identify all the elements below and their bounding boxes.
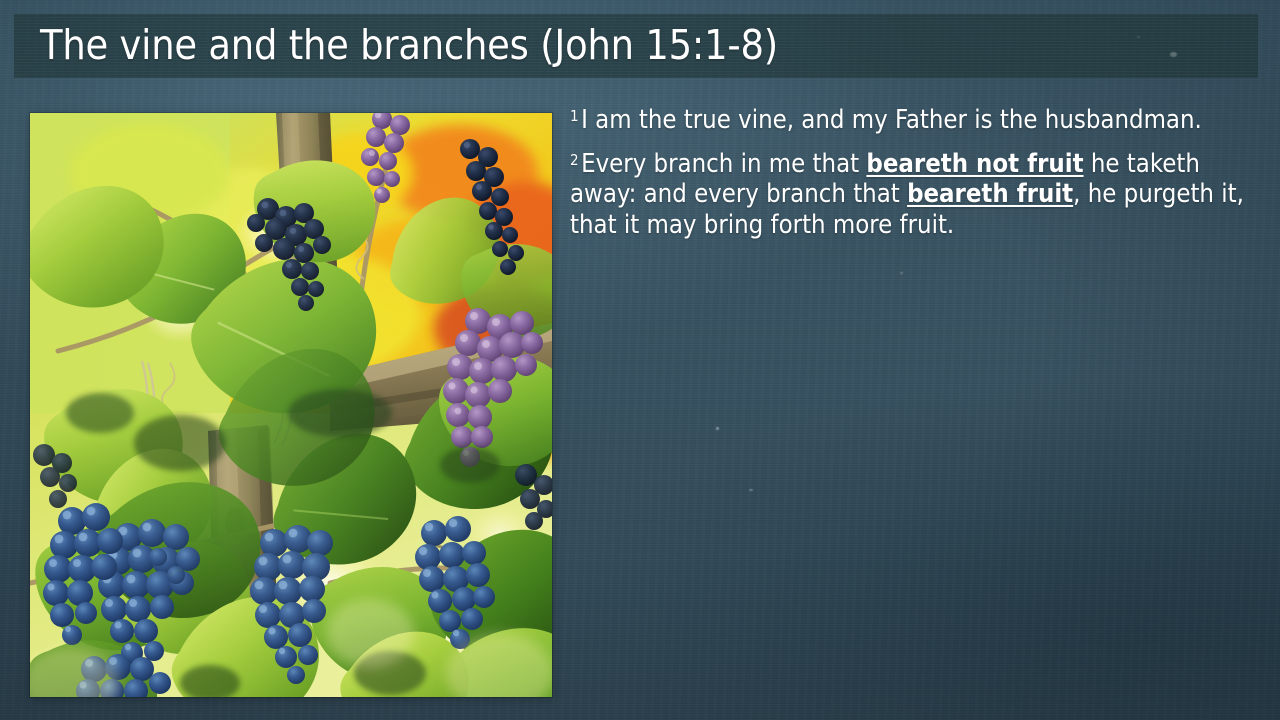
background-speck <box>749 489 753 491</box>
vineyard-illustration <box>30 113 552 697</box>
background-speck <box>716 427 719 430</box>
scripture-text-block: 1I am the true vine, and my Father is th… <box>570 101 1262 240</box>
slide-title-bar[interactable]: The vine and the branches (John 15:1-8) <box>14 14 1258 78</box>
verse-2-paragraph: 2Every branch in me that beareth not fru… <box>570 145 1262 241</box>
background-speck <box>900 272 903 274</box>
vineyard-grapes-photo[interactable] <box>30 113 552 697</box>
verse-1-paragraph: 1I am the true vine, and my Father is th… <box>570 101 1262 136</box>
verse-number-2: 2 <box>570 151 581 169</box>
presentation-slide: The vine and the branches (John 15:1-8) <box>0 0 1280 720</box>
verse-2-part-a: Every branch in me that <box>581 149 866 179</box>
page-title: The vine and the branches (John 15:1-8) <box>40 21 778 69</box>
verse-number-1: 1 <box>570 107 581 125</box>
verse-2-emphasis-beareth-not-fruit: beareth not fruit <box>866 149 1083 179</box>
verse-1-text: I am the true vine, and my Father is the… <box>581 105 1202 135</box>
verse-2-emphasis-beareth-fruit: beareth fruit <box>907 179 1073 209</box>
